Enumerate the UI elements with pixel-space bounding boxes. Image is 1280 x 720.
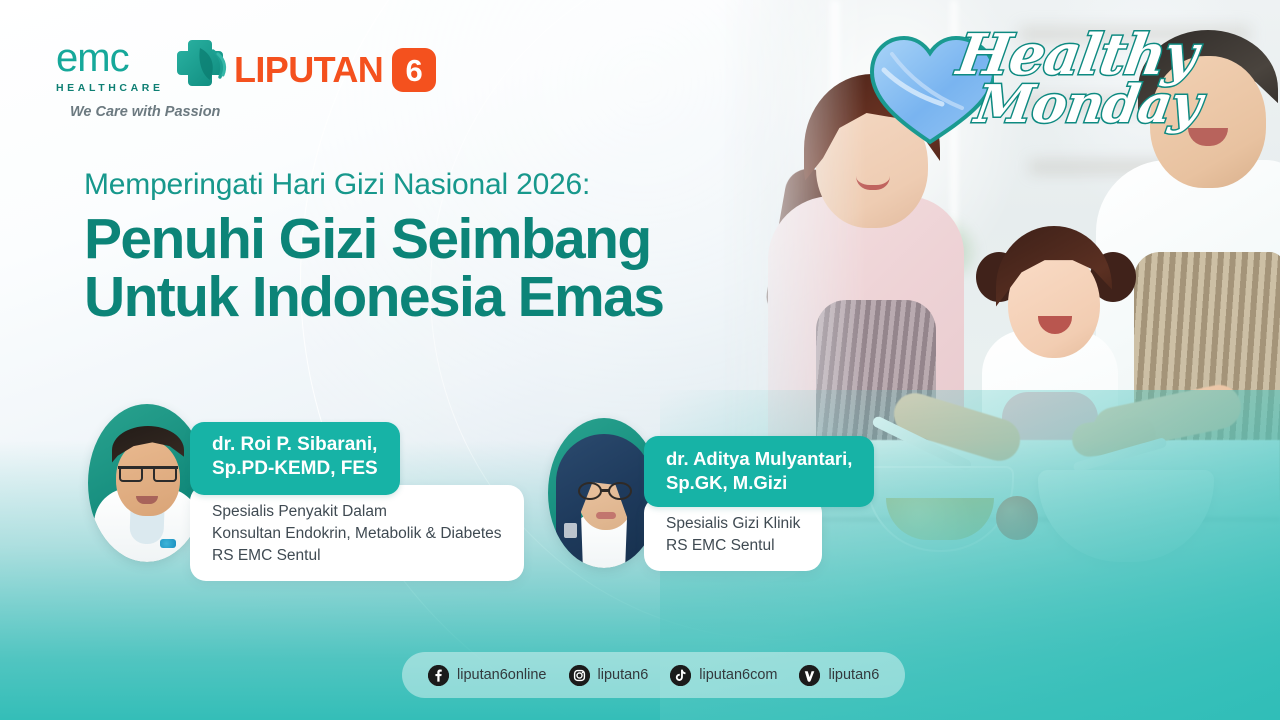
healthy-monday-logo: Healthy Monday <box>866 18 1236 158</box>
headline-title-line2: Untuk Indonesia Emas <box>84 267 864 327</box>
social-handle-label: liputan6 <box>828 667 879 683</box>
emc-healthcare-logo: emc HEALTHCARE We Care with Passion <box>56 36 227 120</box>
speaker-name-badge: dr. Roi P. Sibarani, Sp.PD-KEMD, FES <box>190 422 400 495</box>
social-handle-label: liputan6online <box>457 667 547 683</box>
social-item-facebook[interactable]: liputan6online <box>428 665 547 686</box>
liputan6-wordmark: LIPUTAN <box>234 52 383 88</box>
poster-canvas: emc HEALTHCARE We Care with Passion <box>0 0 1280 720</box>
social-handle-label: liputan6 <box>598 667 649 683</box>
instagram-icon <box>569 665 590 686</box>
vidio-icon <box>799 665 820 686</box>
social-item-instagram[interactable]: liputan6 <box>569 665 649 686</box>
speaker-name-badge: dr. Aditya Mulyantari, Sp.GK, M.Gizi <box>644 436 874 507</box>
speaker-role-card: Spesialis Gizi Klinik RS EMC Sentul <box>644 497 822 571</box>
liputan6-six-digit: 6 <box>406 55 423 86</box>
emc-wordmark: emc <box>56 38 164 78</box>
social-handle-label: liputan6com <box>699 667 777 683</box>
emc-subtitle: HEALTHCARE <box>56 82 164 94</box>
speaker-role-card: Spesialis Penyakit Dalam Konsultan Endok… <box>190 485 524 581</box>
speaker-card-2: dr. Aditya Mulyantari, Sp.GK, M.Gizi Spe… <box>548 418 874 571</box>
medical-cross-icon <box>173 36 227 95</box>
facebook-icon <box>428 665 449 686</box>
avatar <box>88 404 206 562</box>
social-handles-bar: liputan6online liputan6 liputan6com lipu… <box>402 652 905 698</box>
speaker-card-1: dr. Roi P. Sibarani, Sp.PD-KEMD, FES Spe… <box>88 404 524 581</box>
liputan6-logo: LIPUTAN 6 <box>234 48 436 92</box>
social-item-vidio[interactable]: liputan6 <box>799 665 879 686</box>
social-item-tiktok[interactable]: liputan6com <box>670 665 777 686</box>
headline-block: Memperingati Hari Gizi Nasional 2026: Pe… <box>84 168 864 328</box>
tiktok-icon <box>670 665 691 686</box>
healthy-monday-line2: Monday <box>971 74 1205 135</box>
liputan6-six-badge: 6 <box>392 48 436 92</box>
emc-tagline: We Care with Passion <box>70 104 227 120</box>
headline-title-line1: Penuhi Gizi Seimbang <box>84 209 864 269</box>
headline-kicker: Memperingati Hari Gizi Nasional 2026: <box>84 168 864 203</box>
